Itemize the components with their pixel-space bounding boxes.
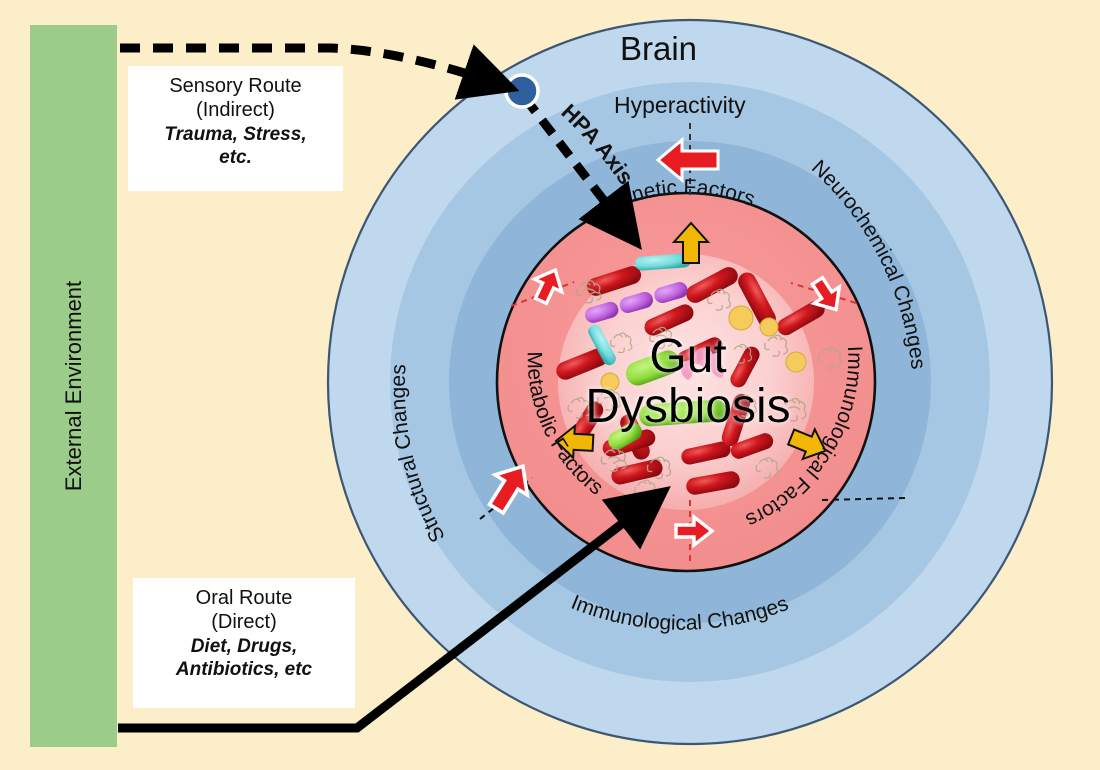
oral-route-callout: Oral Route (Direct) Diet, Drugs, Antibio… <box>133 578 355 708</box>
yellow-microbe <box>786 352 806 372</box>
sensory-route-line4: etc. <box>138 146 333 169</box>
hyperactivity-label: Hyperactivity <box>614 92 746 119</box>
oral-route-line2: (Direct) <box>143 610 345 634</box>
external-environment-bar: External Environment <box>30 25 117 747</box>
brain-label: Brain <box>620 30 697 68</box>
oral-route-line3: Diet, Drugs, <box>143 635 345 658</box>
external-environment-label: External Environment <box>61 281 87 491</box>
sensory-route-callout: Sensory Route (Indirect) Trauma, Stress,… <box>128 66 343 191</box>
yellow-microbe <box>729 306 753 330</box>
core-label-line1: Gut <box>649 330 726 383</box>
oral-route-line1: Oral Route <box>143 586 345 610</box>
hpa-node[interactable] <box>506 75 538 107</box>
core-label-line2: Dysbiosis <box>585 380 790 433</box>
yellow-microbe <box>760 318 778 336</box>
sensory-route-line1: Sensory Route <box>138 74 333 98</box>
oral-route-line4: Antibiotics, etc <box>143 658 345 681</box>
sensory-route-line2: (Indirect) <box>138 98 333 122</box>
diagram-canvas: Gut Dysbiosis <box>0 0 1100 770</box>
sensory-route-line3: Trauma, Stress, <box>138 123 333 146</box>
